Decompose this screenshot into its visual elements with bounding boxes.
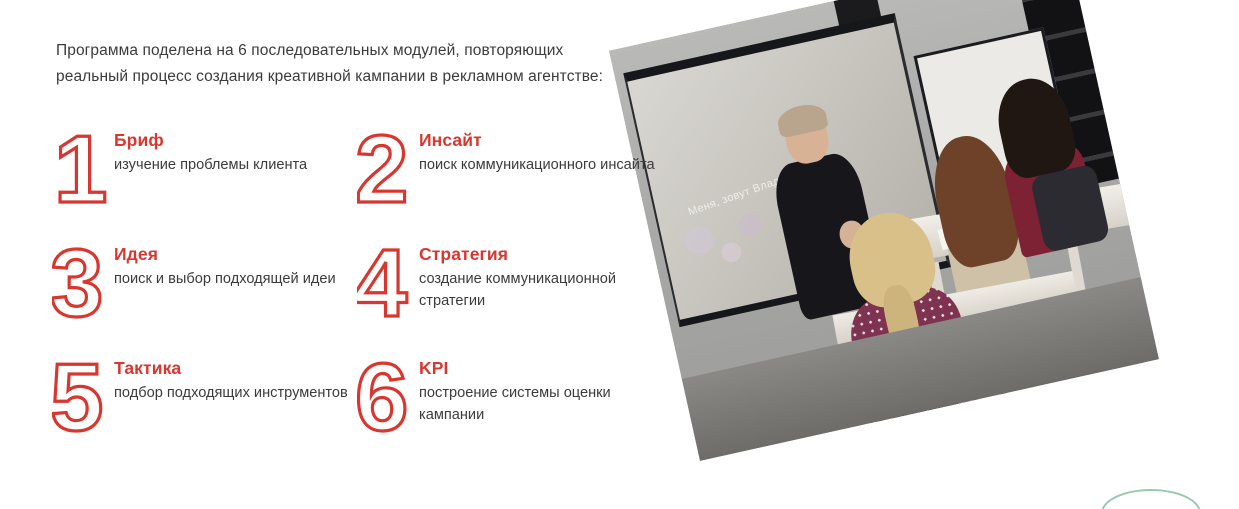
module-text: Тактика подбор подходящих инструментов: [114, 352, 348, 404]
module-number-5: 5: [52, 352, 114, 440]
module-item: 2 Инсайт поиск коммуникационного инсайта: [357, 124, 662, 222]
module-number-3: 3: [52, 238, 114, 326]
module-text: KPI построение системы оценки кампании: [419, 352, 662, 426]
classroom-photo: Меня, зовут Влад Ситников: [609, 0, 1159, 461]
module-description: поиск коммуникационного инсайта: [419, 154, 655, 176]
module-item: 5 Тактика подбор подходящих инструментов: [52, 352, 357, 450]
module-description: подбор подходящих инструментов: [114, 382, 348, 404]
module-text: Инсайт поиск коммуникационного инсайта: [419, 124, 655, 176]
module-description: создание коммуникационной стратегии: [419, 268, 662, 312]
module-number-1: 1: [52, 124, 114, 212]
module-number-2: 2: [357, 124, 419, 212]
module-number-glyph: 2: [357, 126, 408, 212]
module-text: Бриф изучение проблемы клиента: [114, 124, 307, 176]
attendee-hair: [990, 71, 1080, 182]
hero-visual: ПРОГРАММА Меня, зовут Влад Ситников: [619, 0, 1239, 509]
module-description: поиск и выбор подходящей идеи: [114, 268, 336, 290]
module-text: Стратегия создание коммуникационной стра…: [419, 238, 662, 312]
module-title: Стратегия: [419, 244, 662, 264]
modules-row: 1 Бриф изучение проблемы клиента 2: [52, 124, 672, 222]
page-stage: ПРОГРАММА Меня, зовут Влад Ситников: [0, 0, 1239, 509]
module-title: Тактика: [114, 358, 348, 378]
module-description: построение системы оценки кампании: [419, 382, 662, 426]
module-title: Инсайт: [419, 130, 655, 150]
module-title: Бриф: [114, 130, 307, 150]
module-title: Идея: [114, 244, 336, 264]
module-item: 4 Стратегия создание коммуникационной ст…: [357, 238, 662, 336]
module-title: KPI: [419, 358, 662, 378]
module-number-glyph: 1: [54, 126, 107, 212]
module-text: Идея поиск и выбор подходящей идеи: [114, 238, 336, 290]
modules-row: 3 Идея поиск и выбор подходящей идеи 4: [52, 238, 672, 336]
module-item: 3 Идея поиск и выбор подходящей идеи: [52, 238, 357, 336]
module-number-6: 6: [357, 352, 419, 440]
module-number-glyph: 3: [52, 240, 103, 326]
module-item: 6 KPI построение системы оценки кампании: [357, 352, 662, 450]
photo-scene: Меня, зовут Влад Ситников: [609, 0, 1159, 461]
module-description: изучение проблемы клиента: [114, 154, 307, 176]
intro-paragraph: Программа поделена на 6 последовательных…: [56, 38, 636, 91]
module-number-glyph: 6: [357, 354, 408, 440]
module-item: 1 Бриф изучение проблемы клиента: [52, 124, 357, 222]
module-number-glyph: 5: [52, 354, 103, 440]
modules-grid: 1 Бриф изучение проблемы клиента 2: [52, 124, 672, 450]
modules-row: 5 Тактика подбор подходящих инструментов…: [52, 352, 672, 450]
module-number-4: 4: [357, 238, 419, 326]
content-column: Программа поделена на 6 последовательных…: [0, 0, 660, 509]
module-number-glyph: 4: [357, 240, 407, 326]
